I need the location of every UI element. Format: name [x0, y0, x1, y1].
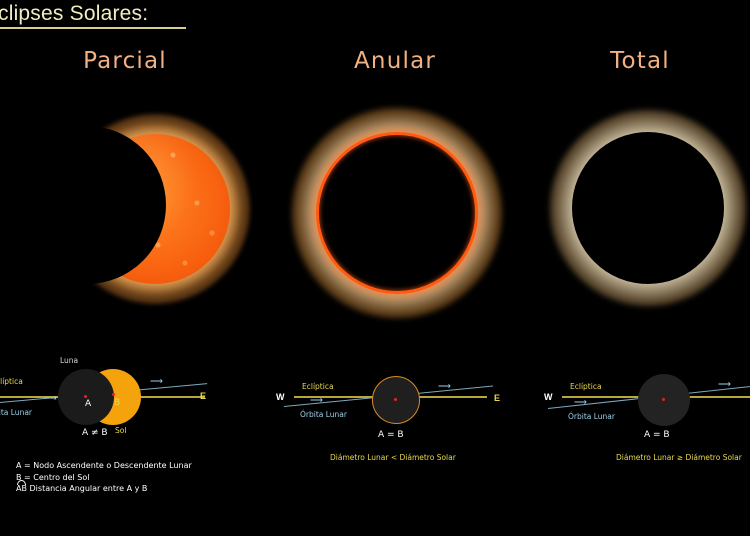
point-a-label: A [85, 399, 91, 409]
relation-caption: A = B [378, 430, 404, 440]
east-marker: E [494, 393, 500, 403]
diameter-note: Diámetro Lunar ≥ Diámetro Solar [616, 453, 742, 462]
relation-caption: A ≠ B [82, 428, 108, 438]
diameter-note: Diámetro Lunar < Diámetro Solar [330, 453, 456, 462]
ecliptic-label: clíptica [0, 377, 23, 386]
lunar-orbit-label: bita Lunar [0, 408, 32, 417]
title-underline [0, 27, 186, 29]
angular-distance-symbol: AB [16, 483, 27, 495]
point-b-label: B [114, 398, 120, 408]
sun-center-point-b-marker [112, 393, 115, 396]
orbit-arrow-icon: ⟶ [44, 394, 57, 403]
moon-silhouette [572, 132, 724, 284]
annular-ring [316, 132, 478, 294]
annular-solar-eclipse-photo [268, 88, 526, 333]
orbit-arrow-icon: ⟶ [150, 377, 163, 386]
legend-line-a: A = Nodo Ascendente o Descendente Lunar [16, 460, 316, 472]
total-eclipse-diagram: ⟶ ⟶ W Eclíptica Órbita Lunar A = B Diáme… [540, 368, 750, 458]
moon-silhouette [8, 126, 166, 284]
orbit-arrow-icon: ⟶ [574, 398, 587, 407]
annular-eclipse-diagram: ⟶ ⟶ W E Eclíptica Órbita Lunar A = B Diá… [272, 368, 512, 458]
west-marker: W [544, 392, 553, 402]
moon-label: Luna [60, 356, 78, 365]
partial-solar-eclipse-photo [8, 88, 253, 333]
node-center-marker [394, 398, 397, 401]
orbit-arrow-icon: ⟶ [438, 382, 451, 391]
angular-distance-text: Distancia Angular entre A y B [27, 484, 147, 493]
node-point-a-marker [84, 395, 87, 398]
diagram-legend: A = Nodo Ascendente o Descendente Lunar … [16, 460, 316, 495]
node-center-marker [662, 398, 665, 401]
sun-label: Sol [115, 426, 126, 435]
legend-line-c: AB Distancia Angular entre A y B [16, 483, 316, 495]
orbit-arrow-icon: ⟶ [718, 380, 731, 389]
column-header-anular: Anular [270, 48, 520, 74]
total-solar-eclipse-photo [540, 88, 750, 333]
page-title: de Eclipses Solares: [0, 2, 148, 26]
relation-caption: A = B [644, 430, 670, 440]
orbit-arrow-icon: ⟶ [310, 396, 323, 405]
slide-canvas: de Eclipses Solares: Parcial Anular Tota… [0, 0, 750, 536]
ecliptic-label: Eclíptica [570, 382, 602, 391]
column-header-parcial: Parcial [0, 48, 250, 74]
west-marker: W [276, 392, 285, 402]
column-header-total: Total [530, 48, 750, 74]
partial-eclipse-diagram: ⟶ ⟶ Luna Sol clíptica bita Lunar A B E A… [0, 352, 250, 452]
legend-line-b: B = Centro del Sol [16, 472, 316, 484]
ecliptic-label: Eclíptica [302, 382, 334, 391]
lunar-orbit-label: Órbita Lunar [300, 410, 347, 419]
east-marker: E [200, 391, 206, 401]
lunar-orbit-label: Órbita Lunar [568, 412, 615, 421]
